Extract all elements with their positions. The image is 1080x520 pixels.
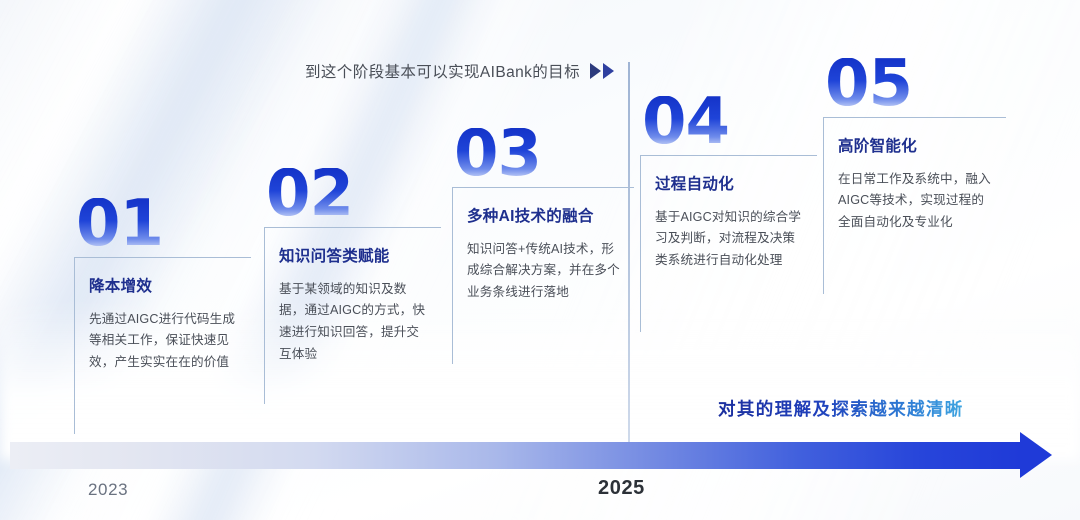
step-body-03: 知识问答+传统AI技术，形成综合解决方案，并在多个业务条线进行落地	[467, 239, 624, 304]
step-title-02: 知识问答类赋能	[279, 244, 431, 266]
timeline-bar	[10, 442, 1022, 469]
timeline-year-end: 2025	[598, 477, 645, 500]
step-body-04: 基于AIGC对知识的综合学习及判断，对流程及决策类系统进行自动化处理	[655, 207, 807, 272]
right-arrow-icon	[1020, 432, 1052, 478]
step-number-03: 03	[454, 128, 634, 182]
step-title-01: 降本增效	[89, 274, 241, 296]
infographic-canvas: 到这个阶段基本可以实现AIBank的目标 01 降本增效 先通过AIGC进行代码…	[0, 0, 1080, 520]
play-triangle-icon	[590, 63, 601, 79]
step-column-03: 03 多种AI技术的融合 知识问答+传统AI技术，形成综合解决方案，并在多个业务…	[452, 128, 634, 364]
step-card-01: 降本增效 先通过AIGC进行代码生成等相关工作，保证快速见效，产生实实在在的价值	[74, 257, 251, 434]
step-number-01: 01	[76, 198, 251, 252]
step-column-01: 01 降本增效 先通过AIGC进行代码生成等相关工作，保证快速见效，产生实实在在…	[74, 198, 251, 434]
step-title-04: 过程自动化	[655, 172, 807, 194]
step-column-04: 04 过程自动化 基于AIGC对知识的综合学习及判断，对流程及决策类系统进行自动…	[640, 96, 817, 332]
milestone-annotation: 到这个阶段基本可以实现AIBank的目标	[305, 60, 614, 82]
step-body-02: 基于某领域的知识及数据，通过AIGC的方式，快速进行知识回答，提升交互体验	[279, 279, 431, 366]
step-number-04: 04	[642, 96, 817, 150]
step-card-03: 多种AI技术的融合 知识问答+传统AI技术，形成综合解决方案，并在多个业务条线进…	[452, 187, 634, 364]
step-body-01: 先通过AIGC进行代码生成等相关工作，保证快速见效，产生实实在在的价值	[89, 309, 241, 374]
milestone-annotation-text: 到这个阶段基本可以实现AIBank的目标	[305, 60, 580, 82]
step-number-02: 02	[266, 168, 441, 222]
timeline-year-start: 2023	[88, 480, 128, 500]
summary-tagline: 对其的理解及探索越来越清晰	[718, 396, 964, 421]
step-number-05: 05	[825, 58, 1006, 112]
step-body-05: 在日常工作及系统中，融入AIGC等技术，实现过程的全面自动化及专业化	[838, 169, 996, 234]
step-title-05: 高阶智能化	[838, 134, 996, 156]
step-card-04: 过程自动化 基于AIGC对知识的综合学习及判断，对流程及决策类系统进行自动化处理	[640, 155, 817, 332]
step-title-03: 多种AI技术的融合	[467, 204, 624, 226]
step-card-05: 高阶智能化 在日常工作及系统中，融入AIGC等技术，实现过程的全面自动化及专业化	[823, 117, 1006, 294]
step-column-05: 05 高阶智能化 在日常工作及系统中，融入AIGC等技术，实现过程的全面自动化及…	[823, 58, 1006, 294]
play-triangle-icon	[603, 63, 614, 79]
milestone-annotation-arrows	[590, 63, 614, 79]
step-card-02: 知识问答类赋能 基于某领域的知识及数据，通过AIGC的方式，快速进行知识回答，提…	[264, 227, 441, 404]
step-column-02: 02 知识问答类赋能 基于某领域的知识及数据，通过AIGC的方式，快速进行知识回…	[264, 168, 441, 404]
